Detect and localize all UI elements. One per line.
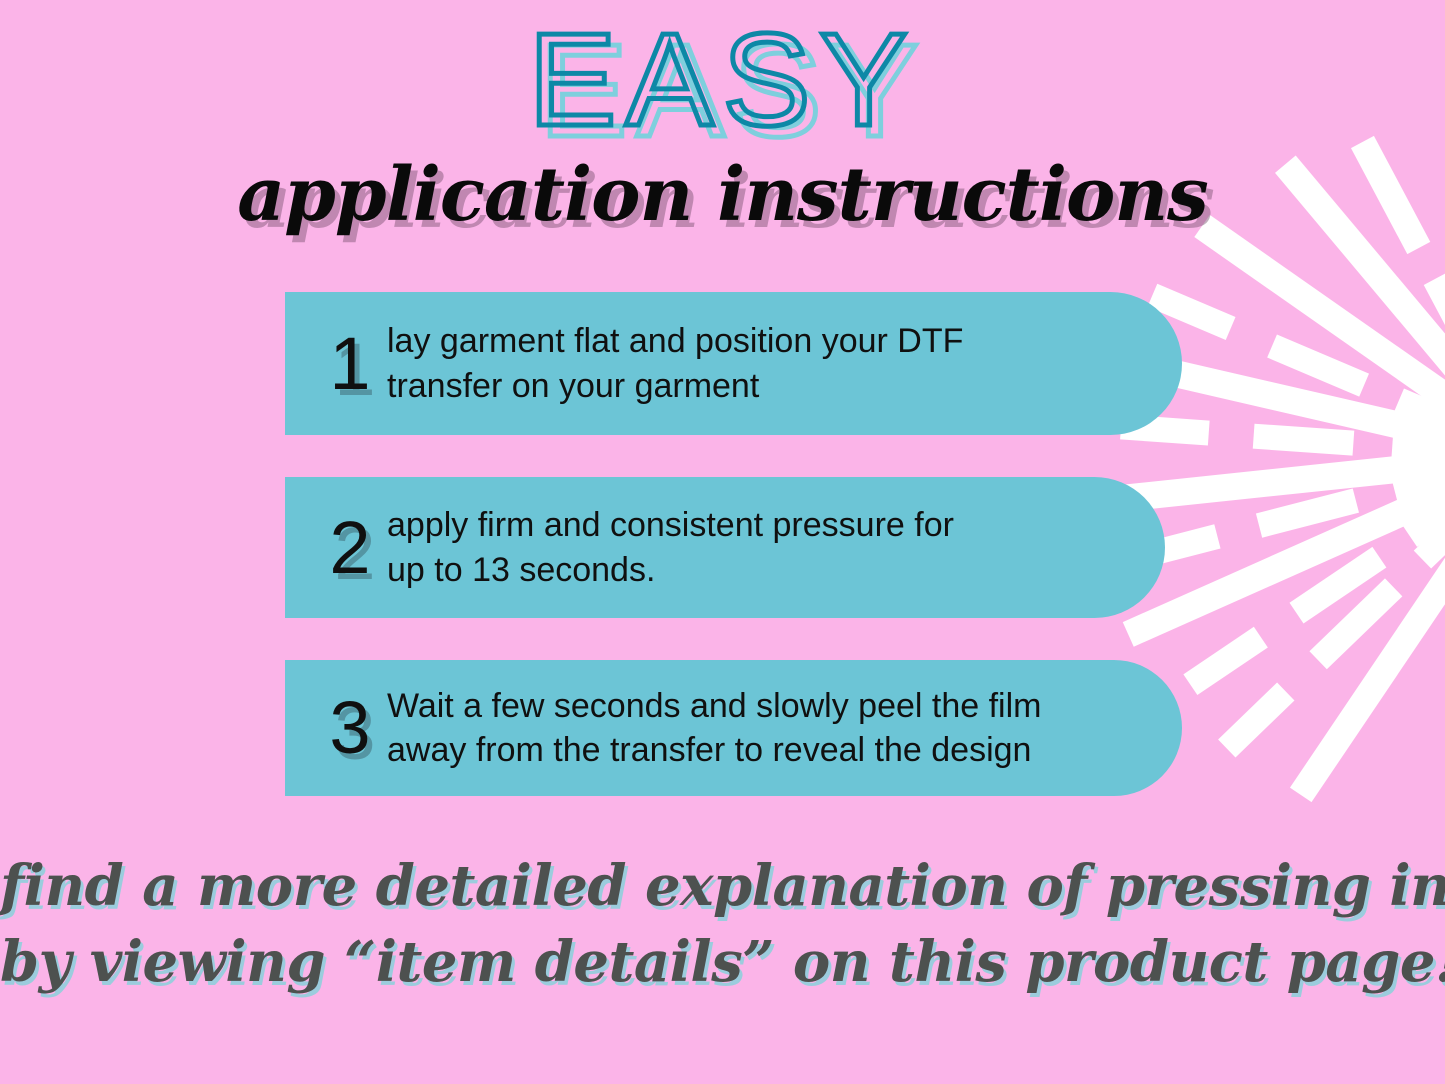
step-text-line: away from the transfer to reveal the des…	[387, 728, 1041, 772]
step-text-line: transfer on your garment	[387, 364, 963, 408]
step-text-line: Wait a few seconds and slowly peel the f…	[387, 684, 1041, 728]
step-text-line: lay garment flat and position your DTF	[387, 319, 963, 363]
subheadline: application instructions	[0, 158, 1445, 232]
step-text-1: lay garment flat and position your DTF t…	[387, 319, 963, 407]
footer-note: find a more detailed explanation of pres…	[0, 848, 1445, 1000]
headline-container: EASY	[0, 14, 1445, 154]
instruction-step-1: 1 lay garment flat and position your DTF…	[285, 292, 1182, 435]
footer-line-1: find a more detailed explanation of pres…	[0, 848, 1445, 924]
step-text-line: up to 13 seconds.	[387, 548, 954, 592]
instruction-graphic-canvas: EASY EASY application instructions 1 lay…	[0, 0, 1445, 1084]
step-number-1: 1	[313, 327, 387, 401]
instruction-step-2: 2 apply firm and consistent pressure for…	[285, 477, 1165, 618]
page-title: EASY	[528, 14, 916, 146]
instruction-steps-list: 1 lay garment flat and position your DTF…	[285, 292, 1185, 796]
footer-line-2: by viewing “item details” on this produc…	[0, 924, 1445, 1000]
step-text-3: Wait a few seconds and slowly peel the f…	[387, 684, 1041, 772]
instruction-step-3: 3 Wait a few seconds and slowly peel the…	[285, 660, 1182, 796]
step-text-line: apply firm and consistent pressure for	[387, 503, 954, 547]
step-number-2: 2	[313, 511, 387, 585]
step-number-3: 3	[313, 691, 387, 765]
step-text-2: apply firm and consistent pressure for u…	[387, 503, 954, 591]
